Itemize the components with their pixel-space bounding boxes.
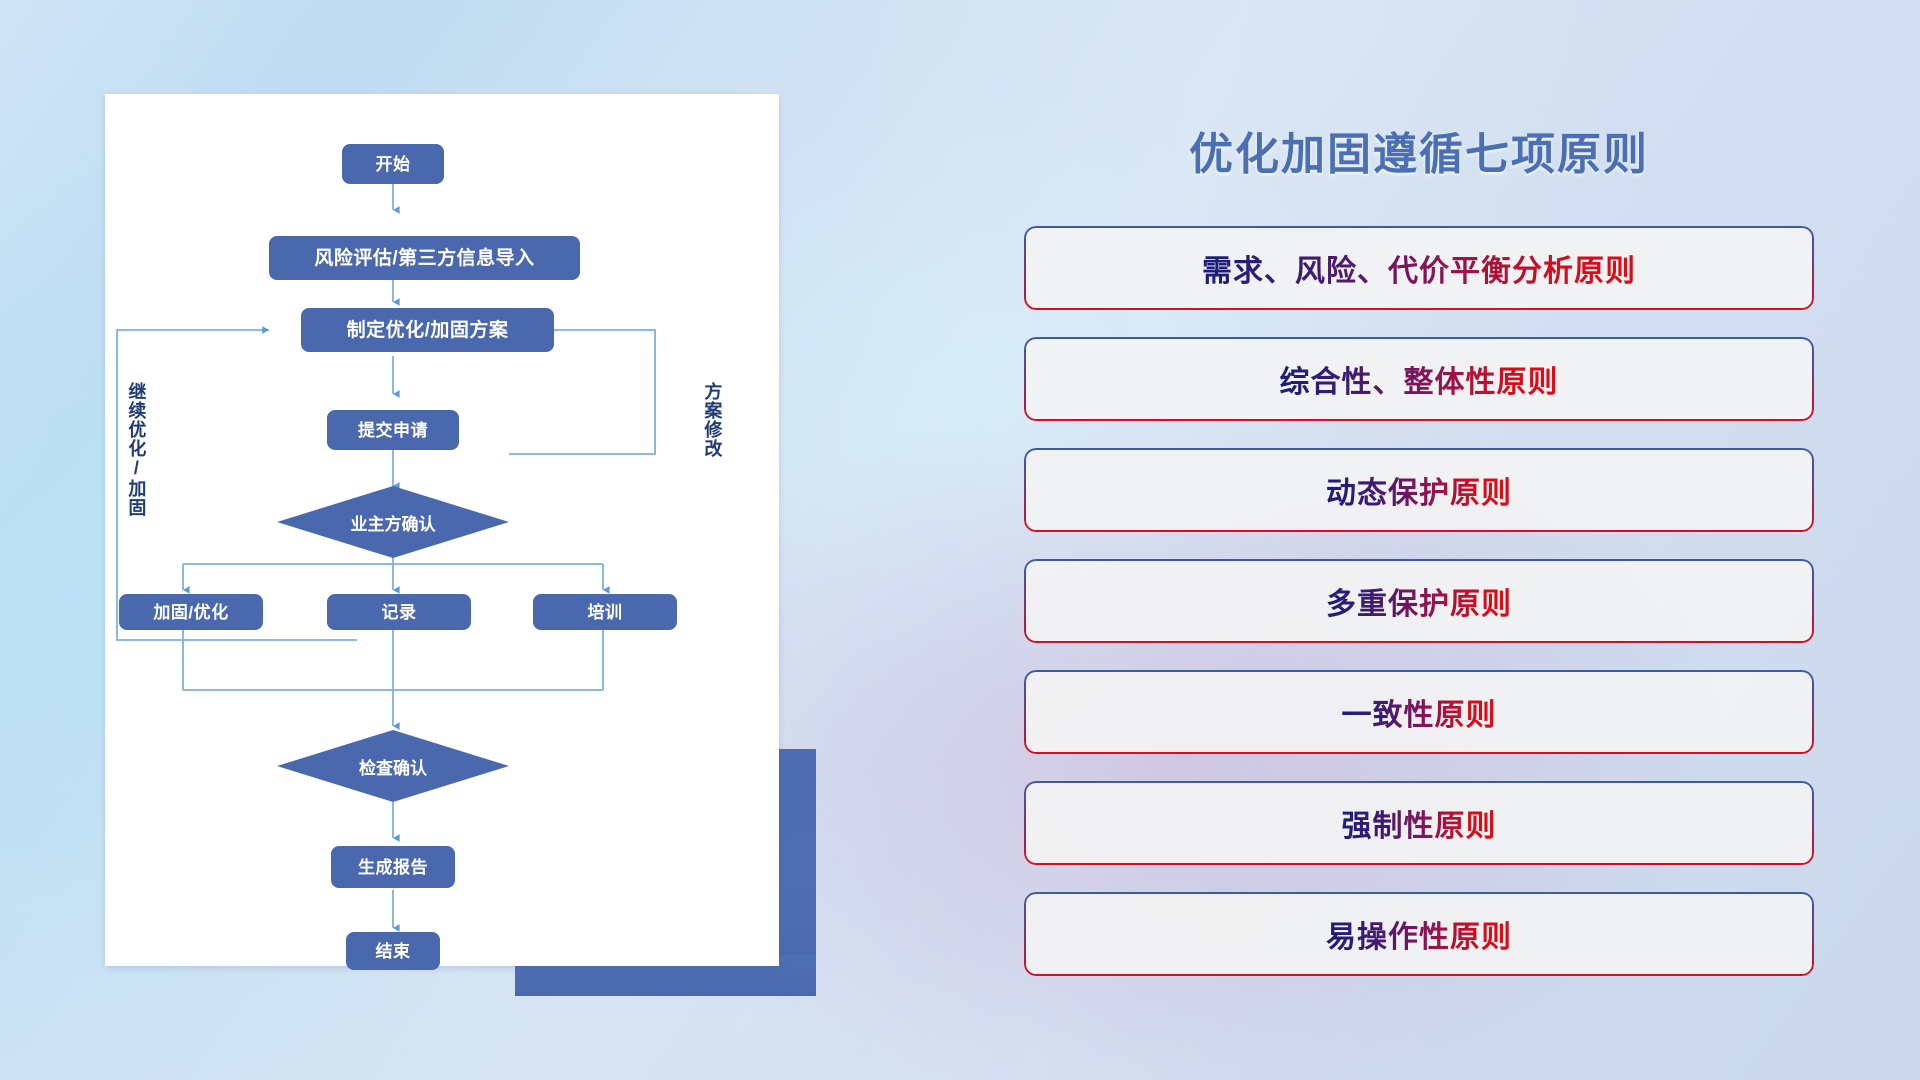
flow-node-inspection-confirmation-label: 检查确认 — [277, 730, 509, 802]
principle-item-7[interactable]: 易操作性原则 — [1024, 892, 1814, 976]
principle-item-1[interactable]: 需求、风险、代价平衡分析原则 — [1024, 226, 1814, 310]
principle-label: 动态保护原则 — [1326, 468, 1512, 512]
flow-node-record[interactable]: 记录 — [327, 594, 471, 630]
principles-panel: 优化加固遵循七项原则 需求、风险、代价平衡分析原则 综合性、整体性原则 动态保护… — [1024, 104, 1854, 1004]
principle-item-2[interactable]: 综合性、整体性原则 — [1024, 337, 1814, 421]
flow-node-training[interactable]: 培训 — [533, 594, 677, 630]
principle-label: 一致性原则 — [1342, 690, 1497, 734]
flow-node-submit-application[interactable]: 提交申请 — [327, 410, 459, 450]
edge-label-continue-optimize: 继续优化/加固 — [127, 382, 145, 517]
principle-item-5[interactable]: 一致性原则 — [1024, 670, 1814, 754]
flow-node-reinforce-optimize[interactable]: 加固/优化 — [119, 594, 263, 630]
principle-label: 多重保护原则 — [1326, 579, 1512, 623]
flow-node-owner-confirmation[interactable]: 业主方确认 — [277, 486, 509, 558]
slide-canvas: 继续优化/加固 方案修改 开始 风险评估/第三方信息导入 制定优化/加固方案 提… — [0, 0, 1920, 1080]
principle-label: 易操作性原则 — [1326, 912, 1512, 956]
flow-node-generate-report[interactable]: 生成报告 — [331, 846, 455, 888]
flow-node-start[interactable]: 开始 — [342, 144, 444, 184]
flow-node-create-plan[interactable]: 制定优化/加固方案 — [301, 308, 554, 352]
flow-node-owner-confirmation-label: 业主方确认 — [277, 486, 509, 558]
principle-label: 强制性原则 — [1342, 801, 1497, 845]
panel-title: 优化加固遵循七项原则 — [1024, 118, 1814, 182]
flow-node-risk-assessment[interactable]: 风险评估/第三方信息导入 — [269, 236, 580, 280]
flow-node-end[interactable]: 结束 — [346, 932, 440, 970]
edge-label-plan-revision: 方案修改 — [703, 382, 721, 458]
principles-list: 需求、风险、代价平衡分析原则 综合性、整体性原则 动态保护原则 多重保护原则 一… — [1024, 226, 1814, 1003]
principle-label: 需求、风险、代价平衡分析原则 — [1202, 246, 1636, 290]
flowchart-card: 继续优化/加固 方案修改 开始 风险评估/第三方信息导入 制定优化/加固方案 提… — [105, 94, 779, 966]
principle-item-4[interactable]: 多重保护原则 — [1024, 559, 1814, 643]
flow-node-inspection-confirmation[interactable]: 检查确认 — [277, 730, 509, 802]
principle-item-3[interactable]: 动态保护原则 — [1024, 448, 1814, 532]
principle-label: 综合性、整体性原则 — [1280, 357, 1559, 401]
principle-item-6[interactable]: 强制性原则 — [1024, 781, 1814, 865]
